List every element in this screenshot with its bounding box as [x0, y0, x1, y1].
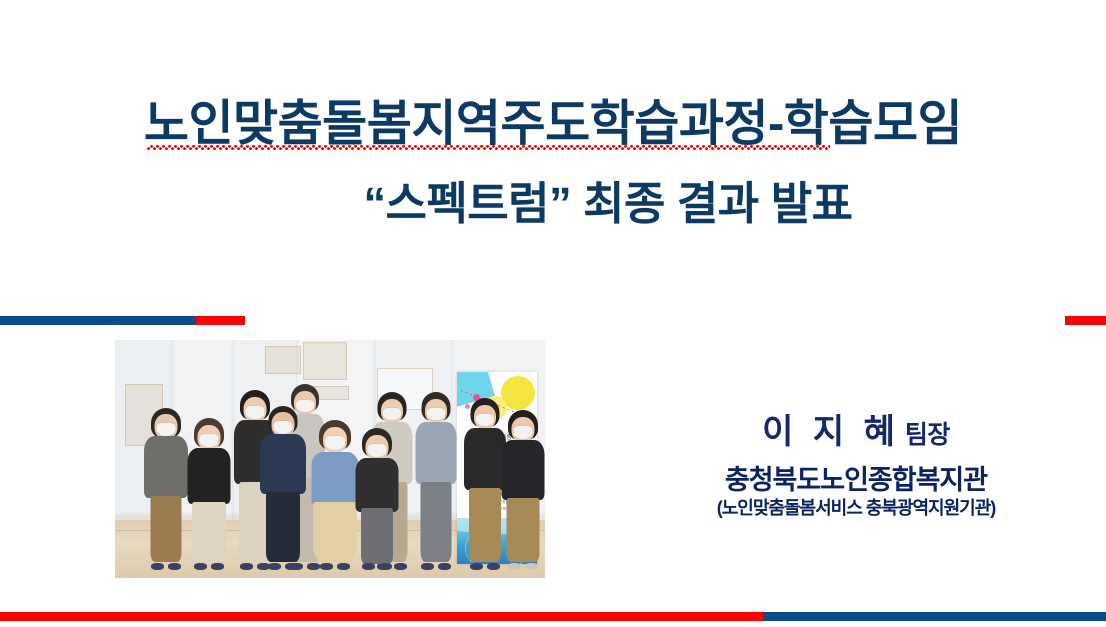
group-photo: 노인맞춤돌봄 지역주도학습과정 학습모임 스펙트럼 한국노인복지시설협회 충청북…	[115, 340, 545, 578]
page-title-line-1-text: 노인맞춤돌봄지역주도학습과정-학습모임	[144, 97, 962, 151]
top-divider-segment-red-right	[1065, 316, 1106, 325]
presenter-role: 팀장	[905, 421, 950, 449]
top-divider-segment-red	[196, 316, 245, 325]
page-title-line-2: “스펙트럼” 최종 결과 발표	[363, 178, 852, 230]
wall-panel	[303, 342, 347, 380]
presenter-organization: 충청북도노인종합복지관	[606, 465, 1106, 496]
page-title-line-1: 노인맞춤돌봄지역주도학습과정-학습모임	[144, 96, 962, 152]
presentation-slide: 노인맞춤돌봄지역주도학습과정-학습모임 “스펙트럼” 최종 결과 발표	[0, 0, 1106, 627]
bottom-divider-segment-navy	[763, 612, 1106, 621]
person	[143, 408, 189, 564]
bottom-divider-segment-red	[0, 612, 763, 621]
wall-panel	[265, 346, 301, 374]
person	[355, 414, 399, 564]
person	[311, 410, 359, 564]
bottom-divider-bar	[0, 612, 1106, 621]
presenter-name-row: 이 지 혜팀장	[606, 414, 1106, 451]
title-line-2-wrapper: “스펙트럼” 최종 결과 발표	[0, 178, 1106, 230]
presenter-block: 이 지 혜팀장 충청북도노인종합복지관 (노인맞춤돌봄서비스 충북광역지원기관)	[606, 414, 1106, 520]
presenter-name: 이 지 혜	[762, 413, 900, 451]
person	[259, 404, 307, 564]
person	[187, 412, 231, 564]
person	[501, 406, 545, 564]
presenter-organization-sub: (노인맞춤돌봄서비스 충북광역지원기관)	[606, 498, 1106, 520]
top-divider-segment-navy	[0, 316, 196, 325]
top-divider-bar	[0, 316, 1106, 325]
title-block: 노인맞춤돌봄지역주도학습과정-학습모임 “스펙트럼” 최종 결과 발표	[0, 96, 1106, 230]
group-photo-image: 노인맞춤돌봄 지역주도학습과정 학습모임 스펙트럼 한국노인복지시설협회 충청북…	[115, 340, 545, 578]
person	[415, 398, 457, 564]
